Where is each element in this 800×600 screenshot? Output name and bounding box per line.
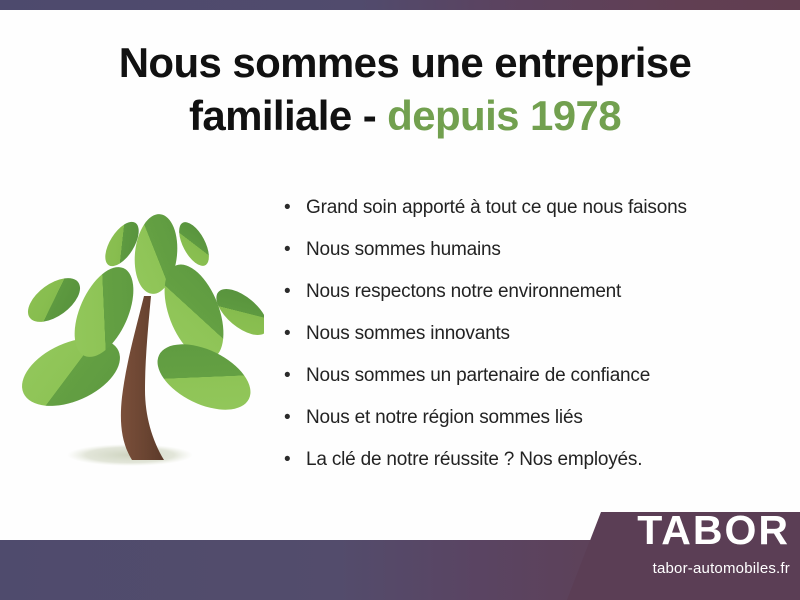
list-item-label: Grand soin apporté à tout ce que nous fa… <box>306 193 687 223</box>
list-item: • Grand soin apporté à tout ce que nous … <box>284 193 784 235</box>
list-item: • Nous respectons notre environnement <box>284 277 784 319</box>
page-title-line-2: familiale - depuis 1978 <box>60 89 750 142</box>
bullet-icon: • <box>284 319 306 349</box>
top-accent-bar <box>0 0 800 10</box>
bullet-icon: • <box>284 445 306 475</box>
list-item-label: La clé de notre réussite ? Nos employés. <box>306 445 642 475</box>
tree-trunk <box>121 296 164 460</box>
page-title-line-1: Nous sommes une entreprise <box>60 36 750 89</box>
bullet-icon: • <box>284 235 306 265</box>
bullet-icon: • <box>284 361 306 391</box>
value-list: • Grand soin apporté à tout ce que nous … <box>284 193 784 487</box>
page-title-line-2-plain: familiale - <box>189 92 387 139</box>
list-item-label: Nous respectons notre environnement <box>306 277 621 307</box>
tree-leaf <box>173 218 215 271</box>
list-item-label: Nous sommes humains <box>306 235 501 265</box>
page-title: Nous sommes une entreprise familiale - d… <box>60 36 750 142</box>
bullet-icon: • <box>284 193 306 223</box>
brand-logo[interactable]: TABOR <box>600 509 790 551</box>
page-title-accent: depuis 1978 <box>387 92 621 139</box>
list-item: • Nous sommes un partenaire de confiance <box>284 361 784 403</box>
list-item: • Nous et notre région sommes liés <box>284 403 784 445</box>
tree-illustration <box>14 192 264 488</box>
list-item-label: Nous sommes un partenaire de confiance <box>306 361 650 391</box>
list-item: • La clé de notre réussite ? Nos employé… <box>284 445 784 487</box>
list-item-label: Nous sommes innovants <box>306 319 510 349</box>
list-item: • Nous sommes humains <box>284 235 784 277</box>
list-item: • Nous sommes innovants <box>284 319 784 361</box>
bullet-icon: • <box>284 403 306 433</box>
bullet-icon: • <box>284 277 306 307</box>
brand-website-url[interactable]: tabor-automobiles.fr <box>600 560 790 577</box>
slide-canvas: Nous sommes une entreprise familiale - d… <box>0 0 800 600</box>
list-item-label: Nous et notre région sommes liés <box>306 403 583 433</box>
